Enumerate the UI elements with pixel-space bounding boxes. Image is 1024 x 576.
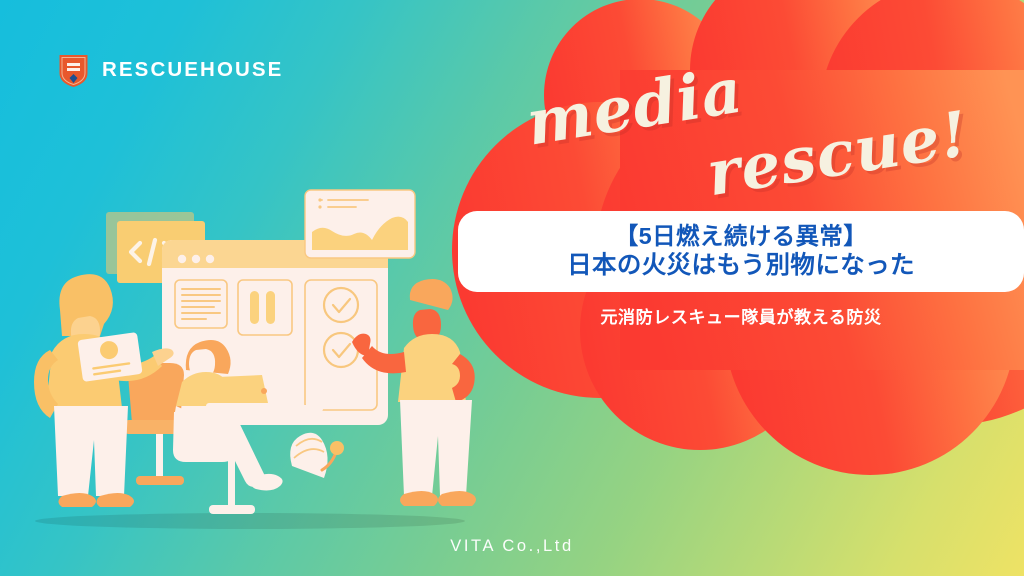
left-person-legs — [54, 406, 128, 496]
chart-bar — [266, 291, 275, 324]
chair-base — [136, 476, 184, 485]
footer-company: VITA Co.,Ltd — [0, 537, 1024, 556]
laptop-screen — [216, 375, 268, 403]
right-person-hair — [410, 279, 453, 310]
browser-dot — [192, 255, 200, 263]
ground-shadow — [35, 513, 465, 529]
rescuehouse-shield-badge-icon — [58, 52, 89, 88]
plant-flower-icon — [330, 441, 344, 455]
headline-pill: 【5日燃え続ける異常】 日本の火災はもう別物になった — [458, 211, 1024, 292]
brand-logo[interactable]: RESCUEHOUSE — [58, 52, 283, 88]
subtitle: 元消防レスキュー隊員が教える防災 — [458, 303, 1024, 328]
headline-line-1: 【5日燃え続ける異常】 — [615, 222, 867, 251]
browser-dot — [206, 255, 214, 263]
browser-dot — [178, 255, 186, 263]
laptop-logo-icon — [261, 388, 267, 394]
right-person-legs — [400, 400, 472, 496]
slide-canvas: RESCUEHOUSE media rescue! 【5日燃え続ける異常】 日本… — [0, 0, 1024, 576]
brand-name: RESCUEHOUSE — [102, 60, 283, 81]
laptop-base — [206, 403, 278, 409]
headline-line-2: 日本の火災はもう別物になった — [567, 251, 915, 282]
script-title: media rescue! — [520, 62, 990, 192]
chair-post — [156, 434, 163, 478]
desk-base — [209, 505, 255, 514]
chart-bar — [250, 291, 259, 324]
